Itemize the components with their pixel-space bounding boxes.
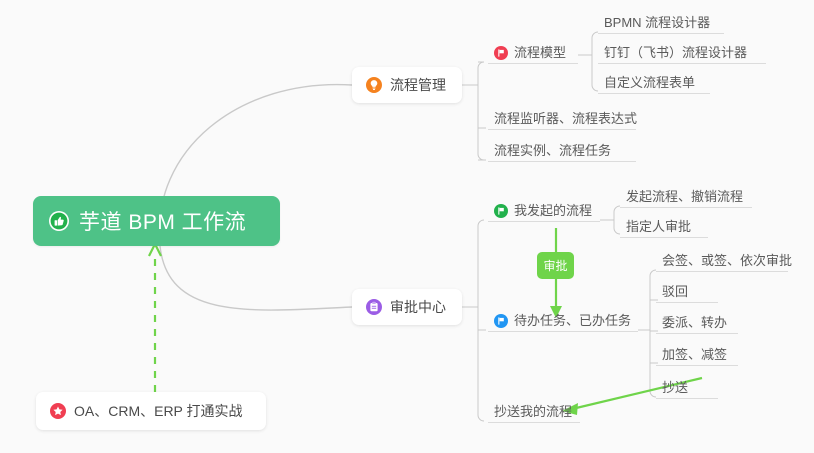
node-liucheng-guanli-label: 流程管理 — [390, 75, 446, 95]
node-huiqian-huoqian[interactable]: 会签、或签、依次审批 — [656, 250, 788, 272]
node-jiantingqi[interactable]: 流程监听器、流程表达式 — [488, 108, 636, 130]
node-liucheng-moxing-label: 流程模型 — [514, 45, 566, 60]
wire-root-to-shenpi-zhongxin — [160, 246, 352, 310]
node-shenpi-zhongxin-label: 审批中心 — [390, 297, 446, 317]
flag-icon — [494, 46, 508, 60]
node-weipai-zhuanban[interactable]: 委派、转办 — [656, 312, 738, 334]
mindmap-canvas: 芋道 BPM 工作流 流程管理 流程模型 流程监听器、流程表达式 流程实例、流 — [0, 0, 814, 453]
node-faqi-chexiao-label: 发起流程、撤销流程 — [626, 189, 743, 204]
node-zidingyi-biaodan[interactable]: 自定义流程表单 — [598, 72, 710, 94]
node-bpmn-sheji-label: BPMN 流程设计器 — [604, 15, 710, 30]
node-zhidingren-shenpi[interactable]: 指定人审批 — [620, 216, 708, 238]
node-weipai-zhuanban-label: 委派、转办 — [662, 315, 727, 330]
node-oa-crm-erp[interactable]: OA、CRM、ERP 打通实战 — [36, 392, 266, 430]
node-jiantingqi-label: 流程监听器、流程表达式 — [494, 111, 637, 126]
node-chaosong-wode[interactable]: 抄送我的流程 — [488, 401, 580, 423]
node-bpmn-sheji[interactable]: BPMN 流程设计器 — [598, 12, 724, 34]
root-node-label: 芋道 BPM 工作流 — [79, 206, 246, 236]
node-jiaqian-jianqian[interactable]: 加签、减签 — [656, 344, 738, 366]
node-chaosong-label: 抄送 — [662, 380, 688, 395]
node-faqi-chexiao[interactable]: 发起流程、撤销流程 — [620, 186, 752, 208]
star-icon — [50, 403, 66, 419]
approve-badge[interactable]: 审批 — [537, 252, 574, 279]
node-zidingyi-biaodan-label: 自定义流程表单 — [604, 75, 695, 90]
node-bohui-label: 驳回 — [662, 284, 688, 299]
node-shili-renwu[interactable]: 流程实例、流程任务 — [488, 140, 636, 162]
lightbulb-icon — [366, 77, 382, 93]
node-zhidingren-shenpi-label: 指定人审批 — [626, 219, 691, 234]
flag-icon — [494, 314, 508, 328]
node-daiban-yiban-label: 待办任务、已办任务 — [514, 313, 631, 328]
node-jiaqian-jianqian-label: 加签、减签 — [662, 347, 727, 362]
node-chaosong[interactable]: 抄送 — [656, 377, 718, 399]
node-wo-faqi[interactable]: 我发起的流程 — [488, 200, 600, 222]
wire-shenpi-zhongxin-bracket — [478, 220, 484, 421]
node-liucheng-moxing[interactable]: 流程模型 — [488, 42, 578, 64]
node-wo-faqi-label: 我发起的流程 — [514, 203, 592, 218]
thumbs-up-icon — [49, 211, 69, 231]
wire-liucheng-guanli-bracket — [478, 62, 484, 160]
node-huiqian-huoqian-label: 会签、或签、依次审批 — [662, 253, 792, 268]
approve-badge-label: 审批 — [543, 257, 567, 274]
node-daiban-yiban[interactable]: 待办任务、已办任务 — [488, 310, 638, 332]
root-node[interactable]: 芋道 BPM 工作流 — [33, 196, 280, 246]
node-chaosong-wode-label: 抄送我的流程 — [494, 404, 572, 419]
node-dingding-feishu-label: 钉钉（飞书）流程设计器 — [604, 45, 747, 60]
node-shenpi-zhongxin[interactable]: 审批中心 — [352, 289, 462, 325]
flag-icon — [494, 204, 508, 218]
node-liucheng-guanli[interactable]: 流程管理 — [352, 67, 462, 103]
clipboard-icon — [366, 299, 382, 315]
node-dingding-feishu[interactable]: 钉钉（飞书）流程设计器 — [598, 42, 766, 64]
node-bohui[interactable]: 驳回 — [656, 281, 718, 303]
node-oa-crm-erp-label: OA、CRM、ERP 打通实战 — [74, 401, 243, 421]
node-shili-renwu-label: 流程实例、流程任务 — [494, 143, 611, 158]
